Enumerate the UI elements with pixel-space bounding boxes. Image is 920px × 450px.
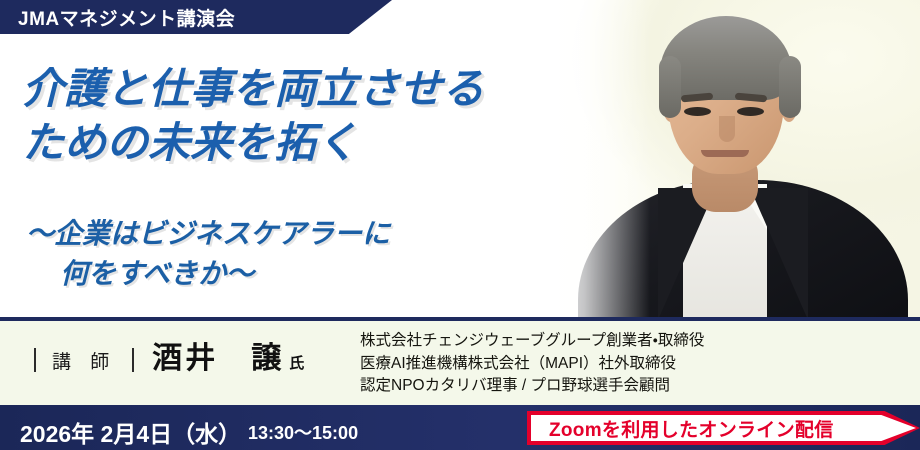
divider-bar-left-icon (34, 348, 36, 372)
event-datetime-bar: 2026年 2月4日（水） 13:30〜15:00 Zoomを利用したオンライン… (0, 405, 920, 450)
speaker-name: 酒井 譲 (152, 333, 284, 377)
eye-right (737, 107, 764, 116)
hair-side-left (659, 56, 681, 118)
page-subtitle: 〜企業はビジネスケアラーに 何をすべきか〜 (26, 214, 390, 294)
event-time: 13:30〜15:00 (248, 419, 358, 445)
seminar-poster: JMAマネジメント講演会 介護と仕事を両立させる ための未来を拓く 〜企業はビジ… (0, 0, 920, 450)
speaker-identity: 講 師 酒井 譲 氏 (18, 333, 304, 377)
event-date: 2026年 2月4日（水） (20, 415, 241, 449)
event-series-label: JMAマネジメント講演会 (18, 4, 235, 31)
title-line-1: 介護と仕事を両立させる (22, 62, 484, 116)
affiliation-line-3: 認定NPOカタリバ理事 / プロ野球選手会顧問 (360, 375, 704, 398)
title-line-2: ための未来を拓く (22, 116, 484, 170)
online-delivery-badge: Zoomを利用したオンライン配信 (527, 411, 920, 445)
portrait-left-fade (540, 0, 650, 320)
speaker-section: 講 師 酒井 譲 氏 株式会社チェンジウェーブグループ創業者・取締役 医療AI推… (0, 317, 920, 405)
divider-bar-right-icon (132, 348, 134, 372)
speaker-portrait-photo (540, 0, 920, 320)
subtitle-line-2: 何をすべきか〜 (26, 254, 390, 294)
event-series-banner: JMAマネジメント講演会 (0, 0, 392, 34)
eye-left (684, 107, 711, 116)
subtitle-line-1: 〜企業はビジネスケアラーに (26, 214, 390, 254)
speaker-affiliations: 株式会社チェンジウェーブグループ創業者・取締役 医療AI推進機構株式会社（MAP… (360, 330, 704, 398)
affiliation-line-1: 株式会社チェンジウェーブグループ創業者・取締役 (360, 330, 704, 353)
online-delivery-badge-inner: Zoomを利用したオンライン配信 (531, 415, 916, 441)
speaker-name-suffix: 氏 (289, 352, 304, 373)
mouth (701, 150, 749, 157)
online-delivery-label: Zoomを利用したオンライン配信 (549, 415, 834, 442)
hair-side-right (779, 56, 801, 118)
page-title: 介護と仕事を両立させる ための未来を拓く (22, 62, 484, 170)
affiliation-line-2: 医療AI推進機構株式会社（MAPI）社外取締役 (360, 353, 704, 376)
nose (719, 116, 735, 142)
speaker-role-label: 講 師 (52, 347, 116, 374)
jacket-lapel-right (750, 188, 808, 320)
